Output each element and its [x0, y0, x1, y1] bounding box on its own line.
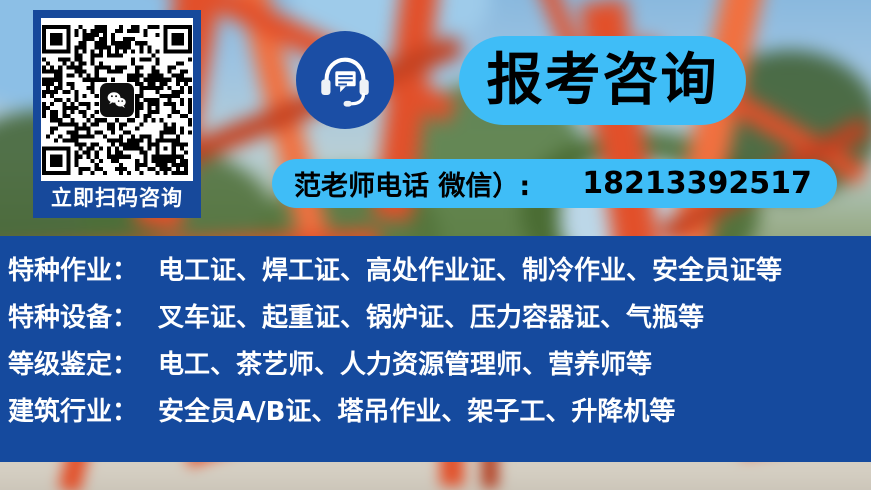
- title-badge-label: 报考咨询: [487, 53, 719, 109]
- services-row: 等级鉴定： 电工、茶艺师、人力资源管理师、营养师等: [0, 344, 871, 391]
- contact-phone-number[interactable]: 18213392517: [582, 166, 812, 201]
- qr-caption: 立即扫码咨询: [41, 181, 193, 215]
- services-row-value: 电工、茶艺师、人力资源管理师、营养师等: [158, 344, 652, 381]
- services-row: 特种设备： 叉车证、起重证、锅炉证、压力容器证、气瓶等: [0, 297, 871, 344]
- services-row: 建筑行业： 安全员A/B证、塔吊作业、架子工、升降机等: [0, 391, 871, 438]
- title-badge[interactable]: 报考咨询: [459, 36, 746, 125]
- services-row-value: 叉车证、起重证、锅炉证、压力容器证、气瓶等: [158, 297, 704, 334]
- services-panel: 特种作业： 电工证、焊工证、高处作业证、制冷作业、安全员证等 特种设备： 叉车证…: [0, 236, 871, 462]
- bottom-photo-strip: [0, 462, 871, 490]
- headset-chat-icon: [296, 31, 394, 129]
- qr-code-card[interactable]: 立即扫码咨询: [33, 10, 201, 218]
- services-row-value: 安全员A/B证、塔吊作业、架子工、升降机等: [158, 391, 675, 428]
- qr-code-image[interactable]: [41, 18, 193, 181]
- services-row-label: 建筑行业：: [8, 391, 158, 428]
- services-row-value: 电工证、焊工证、高处作业证、制冷作业、安全员证等: [158, 250, 782, 287]
- services-row: 特种作业： 电工证、焊工证、高处作业证、制冷作业、安全员证等: [0, 250, 871, 297]
- services-row-label: 特种设备：: [8, 297, 158, 334]
- contact-label: 范老师电话 微信）:: [294, 164, 530, 203]
- contact-badge[interactable]: 范老师电话 微信）: 18213392517: [272, 159, 837, 208]
- promo-poster: 立即扫码咨询 报考咨询 范老师电话 微信）: 18213392517: [0, 0, 871, 490]
- services-row-label: 特种作业：: [8, 250, 158, 287]
- services-row-label: 等级鉴定：: [8, 344, 158, 381]
- wechat-icon: [100, 83, 134, 117]
